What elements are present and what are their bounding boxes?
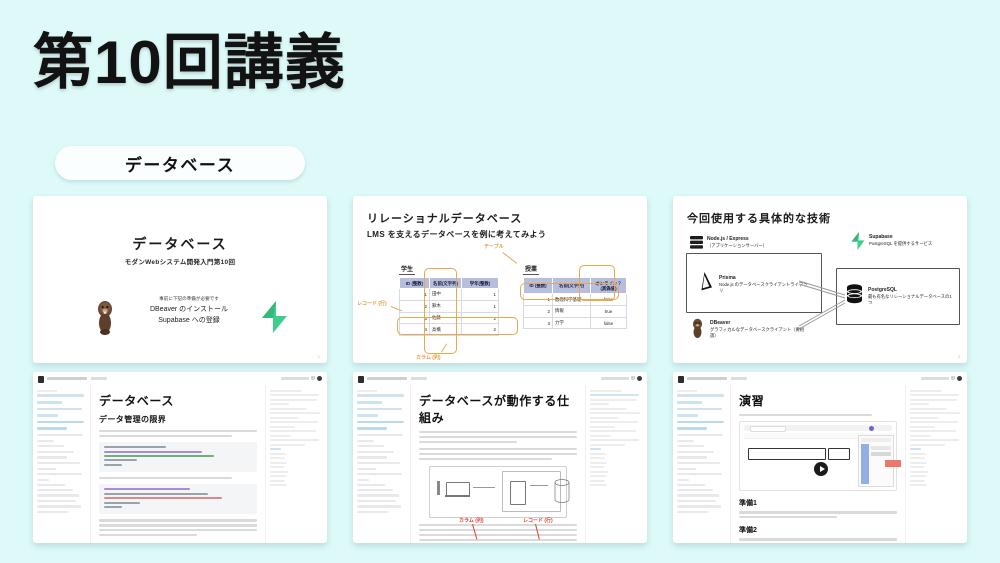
doc-right-toc[interactable]: [265, 385, 327, 543]
db-client-panel: [858, 435, 894, 487]
course-table-wrap: 授業 ID (整数) 名前(文字列) オンライン？(真偽値) 1数理科学基礎fa…: [523, 258, 627, 329]
annotation-record: レコード (行): [523, 517, 553, 524]
architecture-diagram: [429, 466, 567, 518]
table-row: 2情報true: [524, 305, 627, 317]
course-table-caption: 授業: [523, 264, 539, 275]
annotation-leader-line: [441, 344, 447, 353]
slide-thumbnail-tech[interactable]: 今回使用する具体的な技術 Node.js / Express （アプリケーション…: [673, 196, 967, 363]
doc-heading: データベース: [99, 392, 257, 409]
user-stick-figure: [437, 481, 440, 495]
database-cylinder-icon: [554, 479, 570, 503]
topic-badge-label: データベース: [125, 151, 235, 176]
table-row: 2鈴木1: [400, 300, 499, 312]
doc-thumbnail-mechanism[interactable]: データベースが動作する仕組み: [353, 372, 647, 543]
student-col-name: 名前(文字列): [430, 278, 462, 289]
student-table-wrap: 学生 ID (整数) 名前(文字列) 学年(整数) 1田中1 2鈴木1 3佐藤2…: [399, 258, 499, 336]
cell: 力学: [553, 317, 591, 329]
doc-main-content: 演習: [731, 385, 905, 543]
cell: false: [591, 317, 627, 329]
cell: 2: [462, 324, 499, 336]
slide-prep-block: 事前に下記の準備が必要です DBeaver のインストール Supabase へ…: [129, 296, 249, 327]
cell: true: [591, 305, 627, 317]
cell: 鈴木: [430, 300, 462, 312]
cell: 高橋: [430, 324, 462, 336]
table-row: 3力学false: [524, 317, 627, 329]
doc-left-nav[interactable]: [353, 385, 411, 543]
course-col-online: オンライン？(真偽値): [591, 278, 627, 294]
doc-main-content: データベース データ管理の限界: [91, 385, 265, 543]
doc-main-content: データベースが動作する仕組み: [411, 385, 585, 543]
external-link-icon[interactable]: [631, 376, 635, 380]
exercise-video-player[interactable]: [739, 421, 897, 491]
slide-prep-item-supabase: Supabase への登録: [129, 316, 249, 327]
db-arrow: [530, 485, 548, 486]
slide-row-top: データベース モダンWebシステム開発入門第10回 事前に下記の準備が必要です: [33, 196, 967, 363]
app-server-icon: [510, 481, 526, 505]
site-logo-icon: [38, 376, 44, 383]
doc-left-nav[interactable]: [33, 385, 91, 543]
send-button[interactable]: [828, 448, 850, 460]
cell: 3: [400, 312, 430, 324]
site-brand: [687, 377, 727, 381]
network-arrow: [473, 487, 495, 488]
doc-topbar: [33, 372, 327, 386]
message-input[interactable]: [748, 448, 826, 460]
doc-section-heading: 準備1: [739, 498, 897, 508]
browser-tab: [750, 426, 786, 432]
cell: false: [591, 294, 627, 306]
doc-thumbnail-database[interactable]: データベース データ管理の限界: [33, 372, 327, 543]
slide-prep-note: 事前に下記の準備が必要です: [129, 296, 249, 302]
doc-topbar: [673, 372, 967, 386]
slide-title-subtitle: モダンWebシステム開発入門第10回: [33, 256, 327, 266]
annotation-leader-line: [502, 252, 517, 264]
table-row: 1田中1: [400, 289, 499, 301]
play-button[interactable]: [814, 462, 828, 476]
cell: 1: [400, 289, 430, 301]
doc-right-toc[interactable]: [905, 385, 967, 543]
doc-subheading: データ管理の限界: [99, 414, 257, 425]
cell: 1: [462, 300, 499, 312]
topbar-link[interactable]: [921, 377, 949, 380]
course-col-name: 名前(文字列): [553, 278, 591, 294]
cell: 2: [400, 300, 430, 312]
doc-heading: データベースが動作する仕組み: [419, 392, 577, 426]
cell: 2: [524, 305, 553, 317]
doc-topbar: [353, 372, 647, 386]
page-title: 第10回講義: [33, 33, 346, 93]
supabase-logo-icon: [261, 301, 289, 333]
doc-heading: 演習: [739, 392, 897, 409]
slide-page-number: 1: [318, 354, 320, 359]
site-brand: [47, 377, 87, 381]
account-avatar: [869, 426, 874, 431]
site-version: [91, 377, 107, 380]
site-logo-icon: [678, 376, 684, 383]
cell: 田中: [430, 289, 462, 301]
student-table-caption: 学生: [399, 264, 415, 275]
site-version: [731, 377, 747, 380]
doc-right-toc[interactable]: [585, 385, 647, 543]
annotation-column: カラム (列): [416, 354, 441, 361]
theme-toggle-icon[interactable]: [957, 376, 962, 381]
student-col-grade: 学年(整数): [462, 278, 499, 289]
annotation-record: レコード (行): [357, 300, 387, 307]
table-row: 4高橋2: [400, 324, 499, 336]
cell: 数理科学基礎: [553, 294, 591, 306]
site-brand: [367, 377, 407, 381]
doc-thumbnail-exercise[interactable]: 演習: [673, 372, 967, 543]
slide-page-number: 3: [958, 354, 960, 359]
annotation-table: テーブル: [484, 243, 504, 250]
dbeaver-beaver-icon: [93, 299, 117, 335]
connection-arrows: [673, 196, 967, 363]
lecture-overview-page: 第10回講義 データベース データベース モダンWebシステム開発入門第10回: [0, 0, 1000, 563]
annotation-column: カラム (列): [459, 517, 484, 524]
student-col-id: ID (整数): [400, 278, 430, 289]
slide-thumbnail-title[interactable]: データベース モダンWebシステム開発入門第10回 事前に下記の準備が必要です: [33, 196, 327, 363]
course-col-id: ID (整数): [524, 278, 553, 294]
doc-left-nav[interactable]: [673, 385, 731, 543]
cell: 1: [524, 294, 553, 306]
slide-relational-subheading: LMS を支えるデータベースを例に考えてみよう: [367, 229, 546, 240]
code-block: [99, 442, 257, 472]
topbar-link[interactable]: [601, 377, 629, 380]
table-row: 1数理科学基礎false: [524, 294, 627, 306]
laptop-base: [445, 495, 470, 497]
course-table: ID (整数) 名前(文字列) オンライン？(真偽値) 1数理科学基礎false…: [523, 277, 627, 329]
cell: 2: [462, 312, 499, 324]
student-table: ID (整数) 名前(文字列) 学年(整数) 1田中1 2鈴木1 3佐藤2 4高…: [399, 277, 499, 336]
theme-toggle-icon[interactable]: [637, 376, 642, 381]
cell: 4: [400, 324, 430, 336]
topbar-link[interactable]: [281, 377, 309, 380]
code-block: [99, 484, 257, 514]
theme-toggle-icon[interactable]: [317, 376, 322, 381]
cell: 佐藤: [430, 312, 462, 324]
cell: 情報: [553, 305, 591, 317]
cell: 3: [524, 317, 553, 329]
slide-thumbnail-relational[interactable]: リレーショナルデータベース LMS を支えるデータベースを例に考えてみよう 学生…: [353, 196, 647, 363]
external-link-icon[interactable]: [311, 376, 315, 380]
slide-relational-heading: リレーショナルデータベース: [367, 210, 522, 226]
site-logo-icon: [358, 376, 364, 383]
slide-grid: データベース モダンWebシステム開発入門第10回 事前に下記の準備が必要です: [33, 196, 967, 543]
slide-prep-item-dbeaver: DBeaver のインストール: [129, 305, 249, 316]
external-link-icon[interactable]: [951, 376, 955, 380]
doc-section-heading: 準備2: [739, 525, 897, 535]
slide-title-heading: データベース: [33, 234, 327, 254]
slide-row-bottom: データベース データ管理の限界: [33, 372, 967, 543]
topic-badge: データベース: [55, 146, 305, 180]
cell: 1: [462, 289, 499, 301]
table-row: 3佐藤2: [400, 312, 499, 324]
site-version: [411, 377, 427, 380]
